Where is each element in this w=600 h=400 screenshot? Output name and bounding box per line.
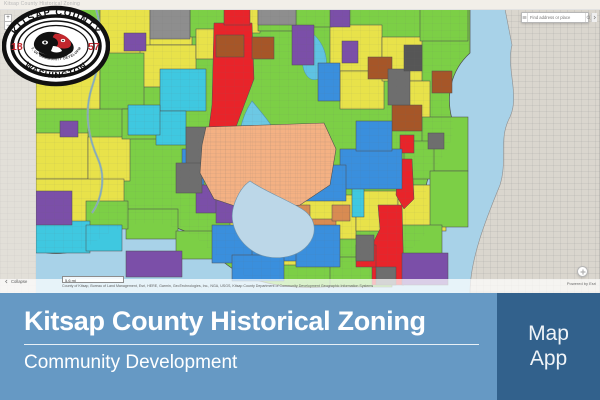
page-subtitle: Community Development [24, 353, 480, 373]
map-attribution: County of Kitsap, Bureau of Land Managem… [62, 284, 373, 288]
locate-crosshair-icon [580, 269, 586, 275]
search-submit-button[interactable] [591, 13, 597, 22]
scale-bar-box: 5.6 mi [62, 276, 124, 283]
map-app-label-line1: Map [528, 322, 569, 346]
search-input[interactable] [528, 15, 585, 20]
scale-bar: 5.6 mi [62, 276, 124, 283]
title-banner: Kitsap County Historical Zoning Communit… [0, 293, 600, 400]
locate-button[interactable] [577, 266, 588, 277]
collapse-label: Collapse [11, 279, 27, 284]
map-viewport[interactable]: Kitsap County Historical Zoning [0, 0, 600, 293]
list-icon [522, 15, 527, 20]
map-app-screenshot: Kitsap County Historical Zoning [0, 0, 600, 400]
esri-credit: Powered by Esri [567, 281, 596, 286]
kitsap-county-seal-logo: KITSAP COUNTY WASHINGTON DEPT. OF COMMUN… [2, 4, 110, 88]
scale-bar-label: 5.6 mi [65, 278, 76, 283]
county-seal-graphic: KITSAP COUNTY WASHINGTON DEPT. OF COMMUN… [2, 4, 110, 88]
map-app-label-line2: App [530, 347, 567, 371]
page-title: Kitsap County Historical Zoning [24, 307, 480, 335]
map-app-panel[interactable]: Map App [497, 293, 600, 400]
seal-year-right: 57 [88, 41, 100, 53]
collapse-widget[interactable]: Collapse [4, 279, 27, 284]
chevron-right-icon [592, 15, 597, 20]
search-widget[interactable] [521, 12, 589, 23]
seal-year-left: 18 [11, 41, 23, 53]
chevron-left-icon [4, 279, 9, 284]
banner-text-block: Kitsap County Historical Zoning Communit… [24, 307, 480, 373]
banner-divider [24, 344, 479, 345]
